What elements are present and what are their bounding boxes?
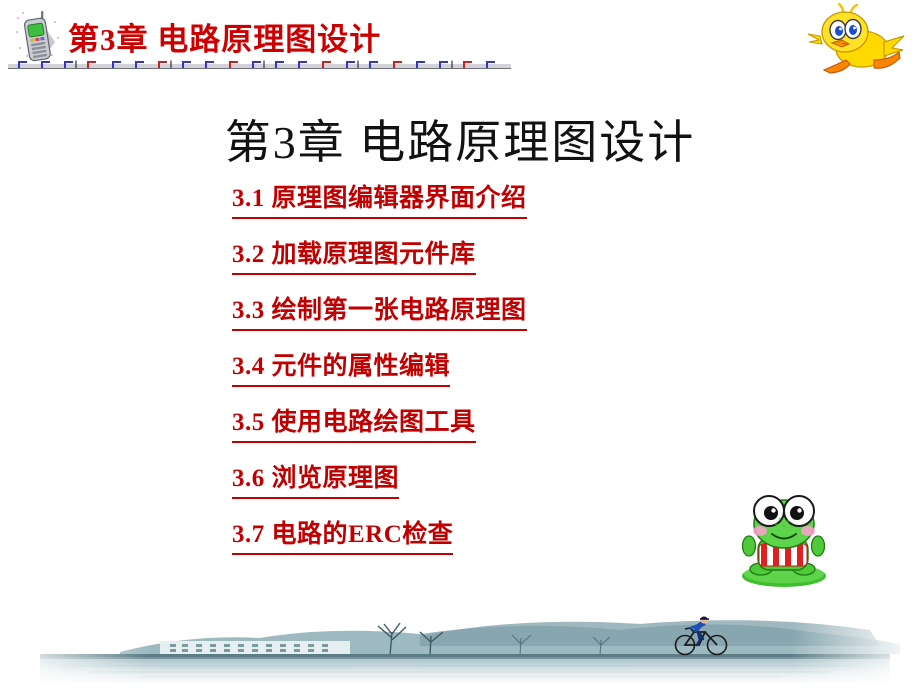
list-item: 3.1 原理图编辑器界面介绍	[232, 182, 852, 238]
ruler-divider-icon	[8, 60, 511, 72]
list-item: 3.3 绘制第一张电路原理图	[232, 294, 852, 350]
riverside-landscape-photo	[0, 594, 920, 690]
list-item: 3.2 加载原理图元件库	[232, 238, 852, 294]
toc-link-3-7[interactable]: 3.7 电路的ERC检查	[232, 518, 453, 555]
tweety-bird-icon	[804, 2, 914, 80]
cyclist-icon	[672, 612, 730, 656]
toc-link-3-5[interactable]: 3.5 使用电路绘图工具	[232, 406, 476, 443]
slide-header: 第3章 电路原理图设计	[0, 0, 920, 80]
header-title: 第3章 电路原理图设计	[68, 14, 381, 59]
mobile-phone-icon	[14, 8, 62, 64]
toc-link-3-3[interactable]: 3.3 绘制第一张电路原理图	[232, 294, 527, 331]
list-item: 3.4 元件的属性编辑	[232, 350, 852, 406]
keroppi-frog-icon	[728, 486, 840, 590]
page-title: 第3章 电路原理图设计	[0, 106, 920, 172]
list-item: 3.5 使用电路绘图工具	[232, 406, 852, 462]
toc-link-3-6[interactable]: 3.6 浏览原理图	[232, 462, 399, 499]
presentation-slide: 第3章 电路原理图设计	[0, 0, 920, 690]
toc-link-3-2[interactable]: 3.2 加载原理图元件库	[232, 238, 476, 275]
toc-link-3-4[interactable]: 3.4 元件的属性编辑	[232, 350, 450, 387]
toc-link-3-1[interactable]: 3.1 原理图编辑器界面介绍	[232, 182, 527, 219]
